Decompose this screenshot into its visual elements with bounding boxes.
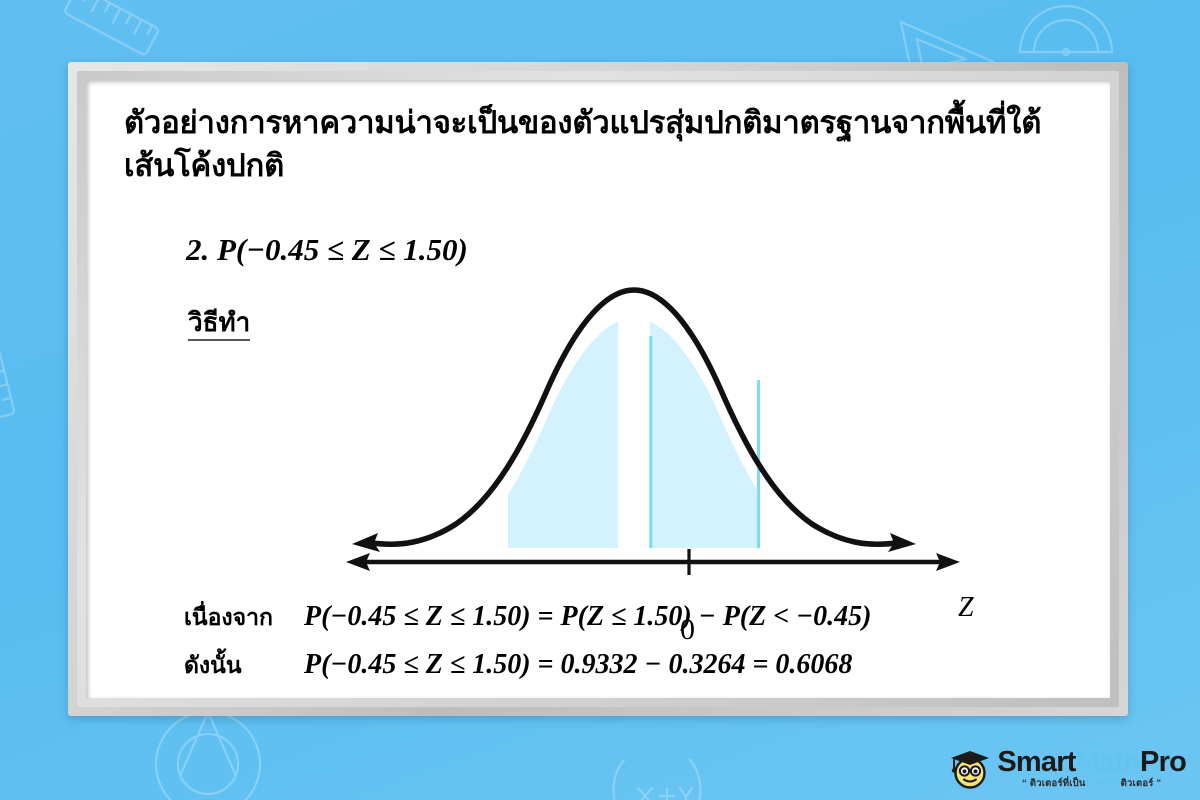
formula-doodle <box>614 760 701 800</box>
logo-smart: Smart <box>997 746 1075 778</box>
axis-label-z: Z <box>958 592 974 624</box>
conclusion-lead-2: ดังนั้น <box>184 648 304 684</box>
problem-expression: P(−0.45 ≤ Z ≤ 1.50) <box>217 232 468 267</box>
ruler-doodle <box>0 330 15 420</box>
tagline-prefix: “ ติวเตอร์ที่เป็น <box>1022 778 1086 789</box>
z-axis <box>344 532 964 592</box>
logo-text-block: SmartMathPro “ ติวเตอร์ที่เป็นมากกว่าติว… <box>997 748 1186 789</box>
graduation-cap-mascot-icon <box>945 746 991 790</box>
slide-canvas: ตัวอย่างการหาความน่าจะเป็นของตัวแปรสุ่มป… <box>86 80 1110 698</box>
logo-tagline: “ ติวเตอร์ที่เป็นมากกว่าติวเตอร์ ” <box>997 779 1186 789</box>
tagline-accent: มากกว่า <box>1086 778 1121 789</box>
problem-number: 2. <box>186 232 209 267</box>
page-title: ตัวอย่างการหาความน่าจะเป็นของตัวแปรสุ่มป… <box>124 102 1054 188</box>
conclusion-lead-1: เนื่องจาก <box>184 600 304 636</box>
brand-logo: SmartMathPro “ ติวเตอร์ที่เป็นมากกว่าติว… <box>945 746 1186 790</box>
conclusion-expression-1: P(−0.45 ≤ Z ≤ 1.50) = P(Z ≤ 1.50) − P(Z … <box>304 601 871 633</box>
method-heading: วิธีทำ <box>188 308 250 341</box>
slide-frame-bevel: ตัวอย่างการหาความน่าจะเป็นของตัวแปรสุ่มป… <box>77 71 1119 707</box>
conclusion-line-1: เนื่องจาก P(−0.45 ≤ Z ≤ 1.50) = P(Z ≤ 1.… <box>184 600 871 636</box>
conclusion-expression-2: P(−0.45 ≤ Z ≤ 1.50) = 0.9332 − 0.3264 = … <box>304 649 852 681</box>
normal-curve-path <box>366 290 902 544</box>
shaded-region-mirror <box>508 280 618 548</box>
slide-frame: ตัวอย่างการหาความน่าจะเป็นของตัวแปรสุ่มป… <box>68 62 1128 716</box>
shaded-region <box>650 280 760 548</box>
protractor-doodle <box>1020 6 1112 55</box>
logo-pro: Pro <box>1140 746 1186 778</box>
tagline-suffix: ติวเตอร์ ” <box>1121 778 1162 789</box>
conclusion-line-2: ดังนั้น P(−0.45 ≤ Z ≤ 1.50) = 0.9332 − 0… <box>184 648 852 684</box>
logo-wordmark: SmartMathPro <box>997 748 1186 777</box>
problem-statement: 2. P(−0.45 ≤ Z ≤ 1.50) <box>186 232 468 268</box>
ruler-doodle <box>64 0 159 56</box>
compass-doodle <box>156 712 260 800</box>
logo-math: Math <box>1076 746 1140 778</box>
